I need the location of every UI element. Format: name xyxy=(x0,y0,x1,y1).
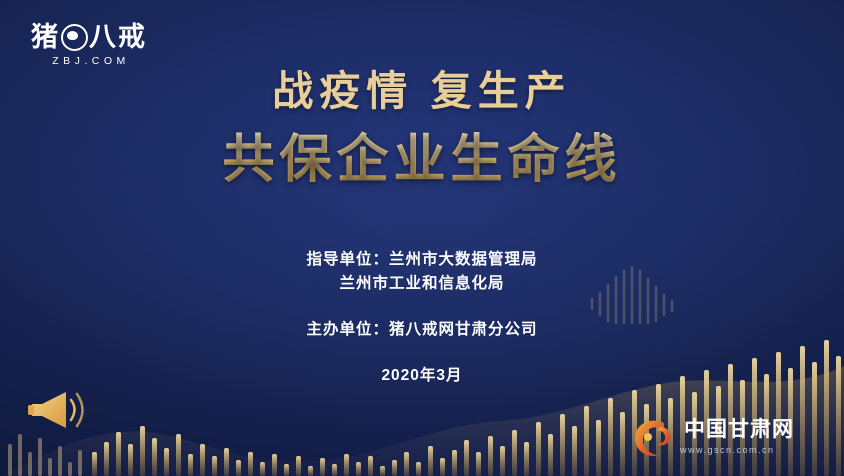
page-title-line-1: 战疫情 复生产 xyxy=(0,66,844,117)
organizer-unit-line: 主办单位：猪八戒网甘肃分公司 xyxy=(0,318,844,342)
title-block: 战疫情 复生产 共保企业生命线 xyxy=(0,66,844,192)
brand-logo-char-right: 八戒 xyxy=(89,24,147,51)
partner-logo-url: www.gscn.com.cn xyxy=(680,445,794,455)
brand-logo-subtitle: ZBJ.COM xyxy=(48,56,130,67)
credits-block: 指导单位：兰州市大数据管理局 兰州市工业和信息化局 主办单位：猪八戒网甘肃分公司… xyxy=(0,248,844,388)
brand-logo-main: 猪 八戒 xyxy=(31,24,147,51)
page-title-line-2: 共保企业生命线 xyxy=(0,129,844,191)
megaphone-icon xyxy=(26,386,90,432)
guidance-unit-line-2: 兰州市工业和信息化局 xyxy=(0,272,844,296)
guidance-unit-line-1: 指导单位：兰州市大数据管理局 xyxy=(0,248,844,272)
brand-logo-mark-icon xyxy=(61,24,88,51)
partner-logo-text: 中国甘肃网 xyxy=(684,419,794,441)
credits-spacer xyxy=(0,296,844,318)
event-date: 2020年3月 xyxy=(0,364,844,388)
partner-logo: 中国甘肃网 www.gscn.com.cn xyxy=(624,406,834,468)
presentation-slide: 猪 八戒 ZBJ.COM 战疫情 复生产 共保企业生命线 指导单位：兰州市大数据… xyxy=(0,0,844,476)
brand-logo-char-left: 猪 xyxy=(31,24,60,51)
credits-spacer-2 xyxy=(0,342,844,364)
partner-logo-mark-icon xyxy=(624,409,680,465)
